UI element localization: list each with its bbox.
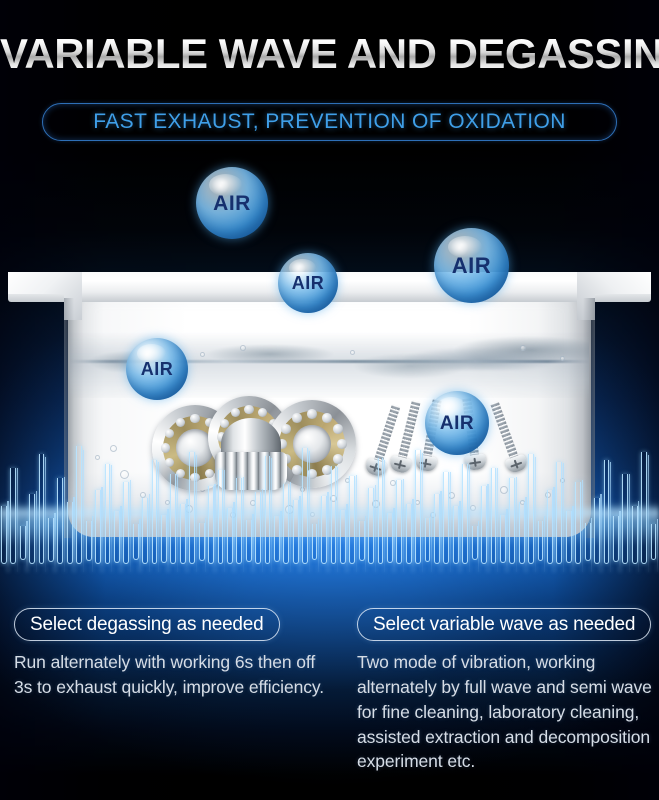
waveform-stroke	[594, 498, 600, 564]
air-bubble-2: AIR	[278, 253, 338, 313]
bearing-ball	[307, 409, 317, 419]
waveform-tick	[262, 489, 263, 572]
waveform-stroke	[265, 456, 271, 564]
caption-variable-wave-body: Two mode of vibration, working alternate…	[357, 650, 657, 774]
waveform-tick	[243, 477, 244, 572]
waveform-tick	[544, 516, 545, 572]
waveform-stroke	[641, 452, 647, 564]
waveform-tick	[196, 455, 197, 572]
waveform-tick	[610, 462, 611, 572]
waveform-tick	[648, 455, 649, 572]
waveform-tick	[64, 477, 65, 572]
waveform-tick	[177, 474, 178, 573]
caption-variable-wave-pill-label: Select variable wave as needed	[373, 614, 635, 636]
waveform-tick	[412, 499, 413, 572]
waveform-tick	[516, 477, 517, 572]
waveform-tick	[290, 482, 291, 572]
waveform-stroke	[274, 516, 280, 562]
poster-root: VARIABLE WAVE AND DEGASSING FAST EXHAUST…	[0, 0, 659, 800]
waveform-stroke	[651, 524, 657, 560]
waveform-stroke	[189, 452, 195, 564]
waveform-tick	[149, 494, 150, 572]
waveform-stroke	[387, 513, 393, 563]
waveform-stroke	[67, 502, 73, 564]
waveform-tick	[563, 463, 564, 572]
micro-bubble	[240, 345, 246, 351]
caption-degassing-pill[interactable]: Select degassing as needed	[14, 608, 280, 641]
waveform-stroke	[604, 460, 610, 564]
waveform-stroke	[170, 474, 176, 564]
waveform-tick	[346, 504, 347, 572]
waveform-tick	[36, 491, 37, 573]
waveform-tick	[205, 518, 206, 572]
waveform-tick	[497, 468, 498, 572]
caption-degassing-body: Run alternately with working 6s then off…	[14, 650, 334, 700]
air-bubble-1: AIR	[196, 167, 268, 239]
waveform-stroke	[321, 496, 327, 564]
waveform-tick	[384, 460, 385, 572]
waveform-stroke	[76, 446, 82, 564]
waveform-stroke	[378, 458, 384, 564]
waveform-tick	[403, 479, 404, 572]
caption-degassing: Select degassing as needed Run alternate…	[14, 608, 334, 700]
waveform-stroke	[20, 526, 26, 560]
bearing-ball	[231, 408, 240, 417]
water-crest	[370, 336, 589, 370]
waveform-stroke	[340, 510, 346, 564]
waveform-stroke	[29, 494, 35, 564]
waveform-stroke	[349, 476, 355, 564]
waveform-tick	[582, 480, 583, 572]
waveform-stroke	[161, 515, 167, 563]
waveform-tick	[487, 484, 488, 572]
waveform-stroke	[331, 466, 337, 564]
waveform-tick	[450, 472, 451, 572]
waveform-tick	[327, 492, 328, 572]
caption-degassing-pill-label: Select degassing as needed	[30, 614, 264, 636]
waveform-tick	[657, 519, 658, 572]
waveform-stroke	[632, 506, 638, 564]
waveform-tick	[591, 518, 592, 572]
waveform-tick	[45, 457, 46, 573]
air-bubble-label: AIR	[440, 414, 474, 433]
caption-variable-wave-pill[interactable]: Select variable wave as needed	[357, 608, 651, 641]
air-bubble-label: AIR	[141, 360, 174, 378]
waveform-tick	[440, 491, 441, 573]
waveform-stroke	[481, 486, 487, 564]
micro-bubble	[200, 352, 205, 357]
waveform-tick	[224, 470, 225, 572]
waveform-stroke	[114, 511, 120, 563]
waveform-tick	[525, 497, 526, 572]
waveform-tick	[130, 480, 131, 572]
waveform-stroke	[528, 454, 534, 564]
waveform-stroke	[57, 478, 63, 564]
subtitle-pill: FAST EXHAUST, PREVENTION OF OXIDATION	[42, 103, 617, 141]
waveform-tick	[7, 501, 8, 572]
waveform-tick	[54, 513, 55, 572]
bearing-ball	[190, 414, 199, 423]
waveform-tick	[309, 451, 310, 572]
waveform-stroke	[613, 516, 619, 562]
bearing-ball	[244, 405, 253, 414]
waveform-tick	[535, 457, 536, 573]
waveform-stroke	[152, 460, 158, 564]
waveform-tick	[337, 467, 338, 572]
waveform-tick	[318, 519, 319, 572]
waveform-tick	[629, 474, 630, 573]
waveform-stroke	[1, 506, 7, 564]
waveform-tick	[459, 501, 460, 572]
page-title: VARIABLE WAVE AND DEGASSING	[0, 32, 659, 76]
waveform-stroke	[368, 488, 374, 564]
waveform-tick	[252, 514, 253, 572]
waveform-tick	[280, 511, 281, 572]
waveform-stroke	[443, 472, 449, 564]
waveform-stroke	[406, 504, 412, 564]
bearing-ball	[258, 408, 267, 417]
waveform-tick	[422, 453, 423, 572]
waveform-tick	[553, 487, 554, 572]
air-bubble-4: AIR	[126, 338, 188, 400]
waveform-stroke	[462, 464, 468, 564]
waveform-stroke	[538, 521, 544, 561]
waveform-tick	[572, 506, 573, 572]
waveform-stroke	[293, 500, 299, 564]
waveform-tick	[17, 468, 18, 572]
waveform-stroke	[10, 468, 16, 564]
waveform-tick	[233, 502, 234, 572]
waveform-stroke	[622, 474, 628, 564]
waveform-tick	[214, 484, 215, 572]
waveform-stroke	[425, 518, 431, 562]
ultrasonic-waveform-graphic	[0, 432, 659, 612]
waveform-stroke	[180, 504, 186, 564]
waveform-tick	[73, 497, 74, 572]
air-bubble-3: AIR	[434, 228, 509, 303]
waveform-stroke	[519, 502, 525, 564]
waveform-stroke	[415, 450, 421, 564]
waveform-stroke	[491, 468, 497, 564]
waveform-stroke	[547, 490, 553, 564]
waveform-stroke	[39, 454, 45, 564]
waveform-tick	[393, 508, 394, 573]
waveform-stroke	[396, 480, 402, 564]
waveform-stroke	[255, 492, 261, 564]
waveform-stroke	[199, 523, 205, 561]
bearing-ball	[176, 418, 185, 427]
waveform-stroke	[359, 521, 365, 561]
waveform-tick	[365, 516, 366, 572]
waveform-stroke	[500, 515, 506, 563]
waveform-tick	[186, 499, 187, 572]
waveform-tick	[120, 506, 121, 572]
waveform-stroke	[123, 482, 129, 564]
waveform-tick	[431, 513, 432, 572]
waveform-tick	[638, 501, 639, 572]
waveform-tick	[619, 511, 620, 572]
waveform-stroke	[566, 511, 572, 563]
waveform-stroke	[218, 470, 224, 564]
waveform-tick	[101, 487, 102, 572]
waveform-stroke	[453, 506, 459, 564]
waveform-stroke	[48, 518, 54, 562]
subtitle-text: FAST EXHAUST, PREVENTION OF OXIDATION	[93, 110, 566, 134]
air-bubble-label: AIR	[452, 255, 491, 277]
waveform-stroke	[575, 482, 581, 564]
waveform-tick	[158, 462, 159, 572]
waveform-stroke	[95, 490, 101, 564]
micro-bubble	[560, 356, 565, 361]
waveform-stroke	[227, 508, 233, 564]
air-bubble-label: AIR	[292, 274, 325, 292]
waveform-tick	[92, 516, 93, 572]
waveform-tick	[139, 519, 140, 572]
bearing-ball	[292, 413, 302, 423]
air-bubble-label: AIR	[213, 193, 251, 214]
waveform-stroke	[472, 526, 478, 560]
micro-bubble	[350, 350, 355, 355]
waveform-stroke	[585, 523, 591, 561]
waveform-tick	[506, 509, 507, 572]
waveform-tick	[375, 485, 376, 572]
waveform-tick	[26, 521, 27, 572]
waveform-tick	[111, 465, 112, 572]
waveform-stroke	[133, 524, 139, 560]
micro-bubble	[520, 345, 526, 351]
waveform-stroke	[283, 484, 289, 564]
waveform-tick	[167, 509, 168, 572]
waveform-tick	[469, 465, 470, 572]
bearing-ball	[322, 413, 332, 423]
waveform-stroke	[105, 464, 111, 564]
waveform-tick	[83, 450, 84, 572]
waveform-tick	[600, 494, 601, 572]
waveform-tick	[299, 496, 300, 572]
waveform-tick	[356, 475, 357, 572]
waveform-stroke	[208, 486, 214, 564]
waveform-stroke	[434, 494, 440, 564]
waveform-stroke	[312, 524, 318, 560]
waveform-stroke	[142, 498, 148, 564]
caption-variable-wave: Select variable wave as needed Two mode …	[357, 608, 657, 774]
waveform-stroke	[302, 448, 308, 564]
waveform-tick	[271, 458, 272, 572]
waveform-tick	[478, 521, 479, 572]
waveform-stroke	[556, 462, 562, 564]
waveform-stroke	[246, 520, 252, 562]
waveform-stroke	[236, 478, 242, 564]
waveform-stroke	[86, 521, 92, 561]
waveform-stroke	[509, 478, 515, 564]
